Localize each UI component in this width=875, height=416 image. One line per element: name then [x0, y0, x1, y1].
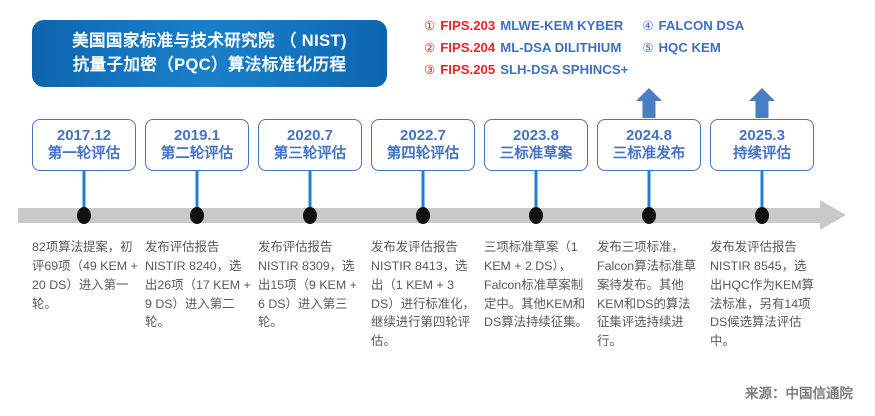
milestone-dot: [529, 207, 543, 224]
title-line-1: 美国国家标准与技术研究院 （ NIST): [72, 30, 347, 54]
milestone-dot: [755, 207, 769, 224]
milestone-dot: [303, 207, 317, 224]
milestone-label: 第二轮评估: [161, 145, 234, 164]
title-banner: 美国国家标准与技术研究院 （ NIST) 抗量子加密（PQC）算法标准化历程: [32, 20, 387, 87]
milestone-description: 82项算法提案，初评69项（49 KEM + 20 DS）进入第一轮。: [32, 238, 138, 313]
legend-algorithm-name: ML-DSA DILITHIUM: [500, 39, 621, 58]
milestone-label: 持续评估: [733, 145, 791, 164]
legend-column-secondary: ④FALCON DSA⑤HQC KEM: [642, 17, 744, 79]
milestone-connector: [648, 171, 651, 211]
milestone-description: 三项标准草案（1 KEM + 2 DS），Falcon标准草案制定中。其他KEM…: [484, 238, 590, 332]
milestone-label: 三标准发布: [613, 145, 686, 164]
milestone-description: 发布三项标准，Falcon算法标准草案待发布。其他KEM和DS的算法征集评选持续…: [597, 238, 703, 351]
milestone-label: 第三轮评估: [274, 145, 347, 164]
legend: ①FIPS.203MLWE-KEM KYBER②FIPS.204ML-DSA D…: [424, 17, 744, 79]
legend-number-icon: ⑤: [642, 40, 653, 58]
legend-standard-code: FIPS.203: [440, 17, 495, 36]
legend-column-primary: ①FIPS.203MLWE-KEM KYBER②FIPS.204ML-DSA D…: [424, 17, 628, 79]
milestone-up-arrow-icon: [636, 88, 662, 118]
milestone-box[interactable]: 2019.1第二轮评估: [145, 119, 249, 171]
legend-standard-code: FIPS.205: [440, 61, 495, 80]
milestone-connector: [422, 171, 425, 211]
milestone-date: 2020.7: [287, 126, 333, 145]
milestone-label: 第一轮评估: [48, 145, 121, 164]
milestone-dot: [416, 207, 430, 224]
legend-algorithm-name: FALCON DSA: [659, 17, 745, 36]
legend-algorithm-name: SLH-DSA SPHINCS+: [500, 61, 628, 80]
milestone-date: 2025.3: [739, 126, 785, 145]
milestone-connector: [535, 171, 538, 211]
legend-number-icon: ①: [424, 18, 435, 36]
title-line-2: 抗量子加密（PQC）算法标准化历程: [73, 54, 347, 78]
milestone-date: 2024.8: [626, 126, 672, 145]
milestone-box[interactable]: 2023.8三标准草案: [484, 119, 588, 171]
milestone-connector: [761, 171, 764, 211]
legend-item: ②FIPS.204ML-DSA DILITHIUM: [424, 39, 628, 58]
legend-item: ③FIPS.205SLH-DSA SPHINCS+: [424, 61, 628, 80]
milestone-connector: [196, 171, 199, 211]
milestone-connector: [83, 171, 86, 211]
milestone-up-arrow-icon: [749, 88, 775, 118]
source-attribution: 来源：中国信通院: [745, 382, 853, 402]
legend-standard-code: FIPS.204: [440, 39, 495, 58]
milestone-date: 2023.8: [513, 126, 559, 145]
milestone-description: 发布评估报告NISTIR 8240，选出26项（17 KEM + 9 DS）进入…: [145, 238, 251, 332]
milestone-date: 2019.1: [174, 126, 220, 145]
milestone-box[interactable]: 2024.8三标准发布: [597, 119, 701, 171]
milestone-dot: [190, 207, 204, 224]
milestone-box[interactable]: 2017.12第一轮评估: [32, 119, 136, 171]
milestone-dot: [642, 207, 656, 224]
milestone-date: 2022.7: [400, 126, 446, 145]
milestone-box[interactable]: 2022.7第四轮评估: [371, 119, 475, 171]
legend-item: ④FALCON DSA: [642, 17, 744, 36]
legend-algorithm-name: MLWE-KEM KYBER: [500, 17, 623, 36]
legend-item: ①FIPS.203MLWE-KEM KYBER: [424, 17, 628, 36]
milestone-label: 三标准草案: [500, 145, 573, 164]
milestone-box[interactable]: 2020.7第三轮评估: [258, 119, 362, 171]
milestone-description: 发布发评估报告NISTIR 8413，选出（1 KEM + 3 DS）进行标准化…: [371, 238, 477, 351]
milestone-connector: [309, 171, 312, 211]
milestone-box[interactable]: 2025.3持续评估: [710, 119, 814, 171]
milestone-description: 发布评估报告NISTIR 8309，选出15项（9 KEM + 6 DS）进入第…: [258, 238, 364, 332]
milestone-description: 发布发评估报告NISTIR 8545，选出HQC作为KEM算法标准，另有14项D…: [710, 238, 816, 351]
legend-item: ⑤HQC KEM: [642, 39, 744, 58]
milestone-date: 2017.12: [57, 126, 111, 145]
legend-algorithm-name: HQC KEM: [659, 39, 721, 58]
timeline-arrow-head-icon: [820, 200, 846, 230]
milestone-dot: [77, 207, 91, 224]
legend-number-icon: ③: [424, 62, 435, 80]
legend-number-icon: ④: [642, 18, 653, 36]
milestone-label: 第四轮评估: [387, 145, 460, 164]
legend-number-icon: ②: [424, 40, 435, 58]
